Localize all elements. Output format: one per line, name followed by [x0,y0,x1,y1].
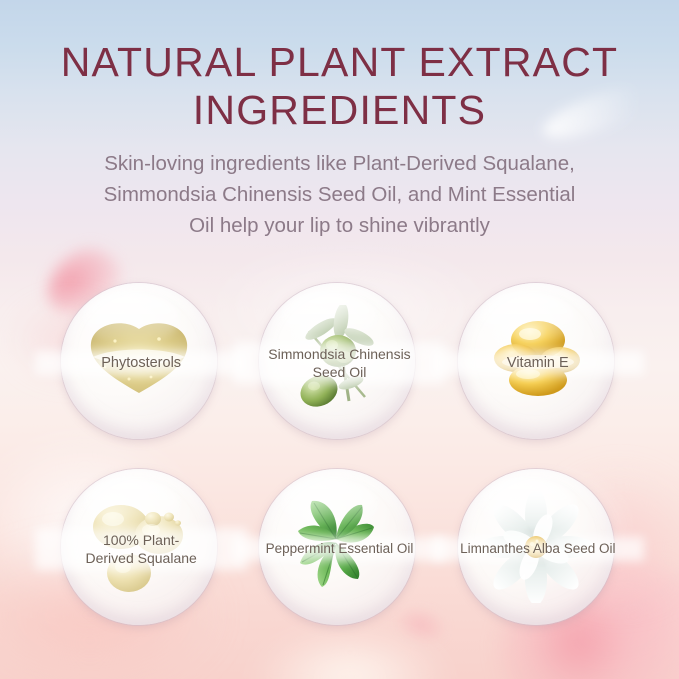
ingredient-label: Limnanthes Alba Seed Oil [432,540,644,558]
ingredient-label: 100% Plant- Derived Squalane [35,531,247,567]
ingredient-card[interactable]: Peppermint Essential Oil [259,469,419,629]
page-subtitle: Skin-loving ingredients like Plant-Deriv… [0,148,679,241]
ingredient-grid: Phytosterols [0,283,679,655]
ingredient-label: Vitamin E [432,354,644,372]
header-block: NATURAL PLANT EXTRACT INGREDIENTS Skin-l… [0,38,679,241]
ingredient-label: Simmondsia Chinensis Seed Oil [233,345,445,381]
page-title: NATURAL PLANT EXTRACT INGREDIENTS [0,38,679,134]
ingredient-card[interactable]: Simmondsia Chinensis Seed Oil [259,283,419,443]
ingredient-card[interactable]: 100% Plant- Derived Squalane [61,469,221,629]
ingredient-card[interactable]: Vitamin E [458,283,618,443]
ingredient-label: Peppermint Essential Oil [233,540,445,558]
ingredient-card[interactable]: Limnanthes Alba Seed Oil [458,469,618,629]
ingredient-label: Phytosterols [35,354,247,372]
ingredient-card[interactable]: Phytosterols [61,283,221,443]
ingredient-poster: NATURAL PLANT EXTRACT INGREDIENTS Skin-l… [0,0,679,679]
